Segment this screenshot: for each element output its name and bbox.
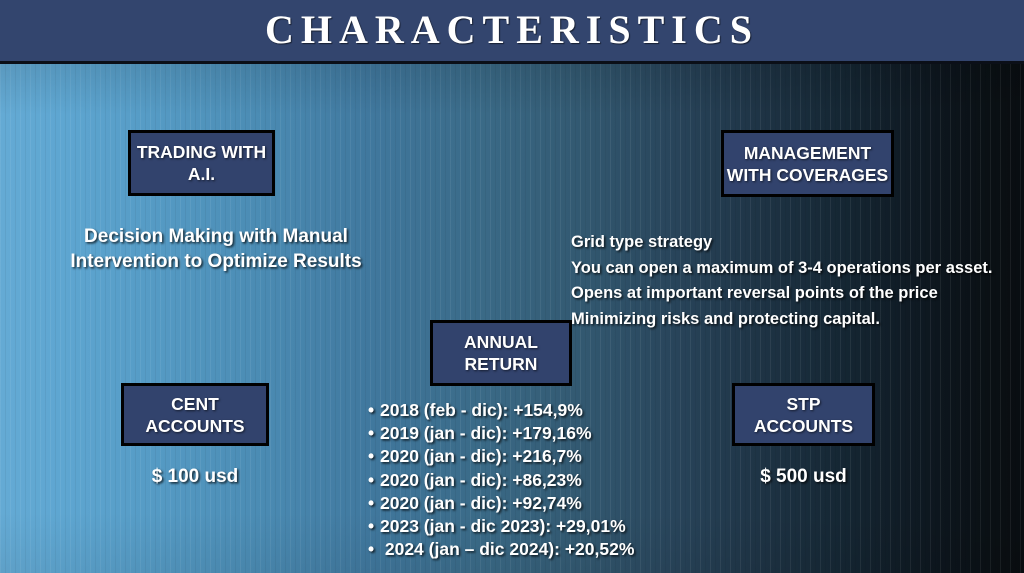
callout-box-stp-accounts: STP ACCOUNTS [732, 383, 875, 446]
grid-strategy-description: Grid type strategy You can open a maximu… [571, 230, 1021, 332]
annual-return-item: 2020 (jan - dic): +92,74% [368, 492, 698, 515]
annual-returns-list: 2018 (feb - dic): +154,9%2019 (jan - dic… [368, 399, 698, 561]
annual-return-item: 2018 (feb - dic): +154,9% [368, 399, 698, 422]
stp-accounts-minimum-amount: $ 500 usd [732, 466, 875, 488]
callout-box-cent-accounts: CENT ACCOUNTS [121, 383, 269, 446]
presentation-slide: CHARACTERISTICS TRADING WITH A.I. MANAGE… [0, 0, 1024, 573]
annual-return-item: 2019 (jan - dic): +179,16% [368, 422, 698, 445]
callout-box-management-with-coverages: MANAGEMENT WITH COVERAGES [721, 130, 894, 197]
callout-box-trading-with-ai: TRADING WITH A.I. [128, 130, 275, 196]
annual-return-item: 2023 (jan - dic 2023): +29,01% [368, 515, 698, 538]
annual-return-item: 2024 (jan – dic 2024): +20,52% [368, 538, 698, 561]
annual-return-item: 2020 (jan - dic): +216,7% [368, 445, 698, 468]
annual-return-item: 2020 (jan - dic): +86,23% [368, 469, 698, 492]
cent-accounts-minimum-amount: $ 100 usd [121, 466, 269, 488]
slide-content: TRADING WITH A.I. MANAGEMENT WITH COVERA… [0, 0, 1024, 573]
callout-box-annual-return: ANNUAL RETURN [430, 320, 572, 386]
decision-making-description: Decision Making with Manual Intervention… [46, 224, 386, 274]
